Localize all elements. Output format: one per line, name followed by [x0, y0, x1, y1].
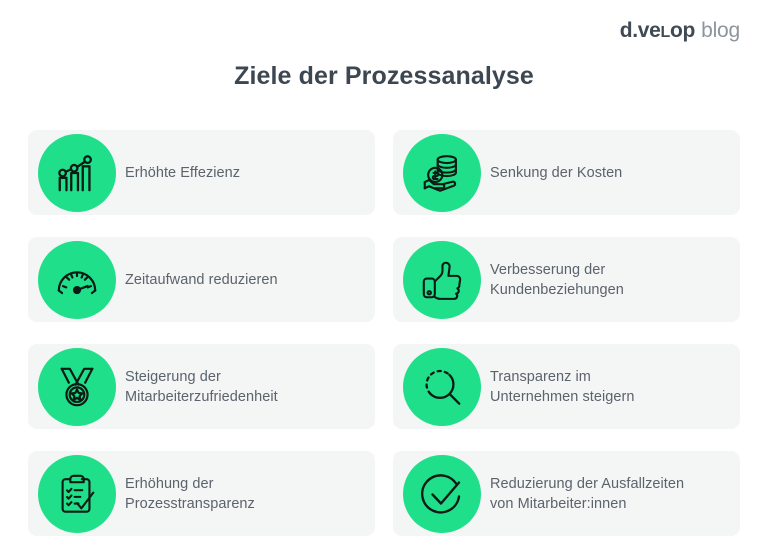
- goal-card-steigerung-mitarbeiterzufriedenheit[interactable]: Steigerung der Mitarbeiterzufriedenheit: [28, 344, 375, 429]
- check-circle-icon: [418, 470, 466, 518]
- brand-word: blog: [701, 20, 740, 41]
- goal-icon-badge: [38, 134, 116, 212]
- bar-chart-trend-icon: [54, 150, 100, 196]
- goal-icon-badge: [403, 348, 481, 426]
- goal-card-erhoehte-effezienz[interactable]: Erhöhte Effezienz: [28, 130, 375, 215]
- goals-grid: Erhöhte Effezienz: [28, 130, 740, 536]
- goal-card-reduzierung-ausfallzeiten[interactable]: Reduzierung der Ausfallzeiten von Mitarb…: [393, 451, 740, 536]
- hand-coins-icon: [419, 150, 465, 196]
- goal-icon-badge: [403, 241, 481, 319]
- goal-icon-badge: [38, 455, 116, 533]
- brand-mark: d.velop: [620, 20, 695, 41]
- brand-mark-suffix: op: [670, 19, 695, 42]
- goal-icon-badge: [38, 241, 116, 319]
- thumbs-up-icon: [419, 257, 465, 303]
- goal-card-zeitaufwand-reduzieren[interactable]: Zeitaufwand reduzieren: [28, 237, 375, 322]
- goal-icon-badge: [403, 455, 481, 533]
- goal-card-erhoehung-prozesstransparenz[interactable]: Erhöhung der Prozesstransparenz: [28, 451, 375, 536]
- goal-card-label: Senkung der Kosten: [490, 163, 622, 183]
- brand-logo: d.velop blog: [620, 20, 740, 41]
- goal-card-label: Erhöhte Effezienz: [125, 163, 240, 183]
- goal-card-label: Zeitaufwand reduzieren: [125, 270, 278, 290]
- infographic-page: d.velop blog Ziele der Prozessanalyse: [0, 0, 768, 557]
- page-title: Ziele der Prozessanalyse: [0, 62, 768, 91]
- goal-card-label: Erhöhung der Prozesstransparenz: [125, 474, 255, 514]
- goal-card-label: Reduzierung der Ausfallzeiten von Mitarb…: [490, 474, 684, 514]
- goal-card-transparenz-unternehmen[interactable]: Transparenz im Unternehmen steigern: [393, 344, 740, 429]
- goal-icon-badge: [38, 348, 116, 426]
- speedometer-icon: [54, 257, 100, 303]
- brand-mark-smallcap: l: [661, 24, 670, 41]
- medal-icon: [54, 364, 100, 410]
- goal-card-verbesserung-kundenbeziehungen[interactable]: Verbesserung der Kundenbeziehungen: [393, 237, 740, 322]
- magnifier-icon: [419, 364, 465, 410]
- clipboard-checklist-icon: [54, 471, 100, 517]
- goal-card-label: Steigerung der Mitarbeiterzufriedenheit: [125, 367, 278, 407]
- goal-card-label: Transparenz im Unternehmen steigern: [490, 367, 634, 407]
- goal-card-label: Verbesserung der Kundenbeziehungen: [490, 260, 624, 300]
- goal-icon-badge: [403, 134, 481, 212]
- brand-mark-prefix: d.ve: [620, 19, 661, 42]
- goal-card-senkung-der-kosten[interactable]: Senkung der Kosten: [393, 130, 740, 215]
